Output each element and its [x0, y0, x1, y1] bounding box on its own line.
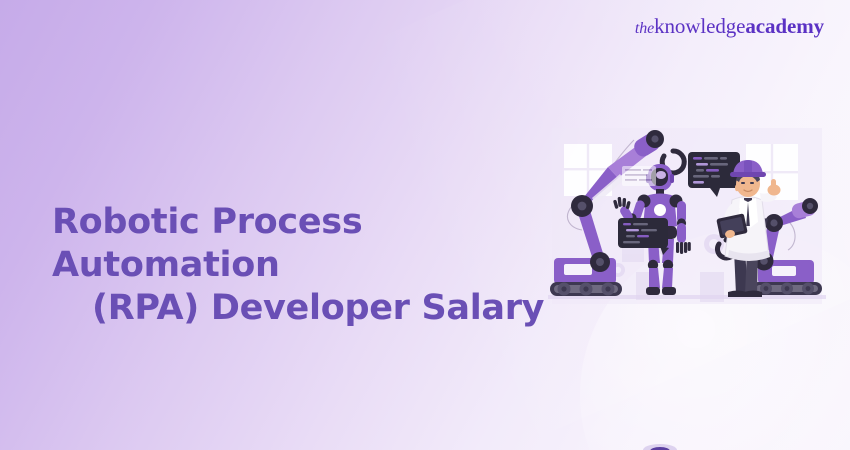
text-lines-panel	[622, 166, 656, 186]
page-title: Robotic Process Automation (RPA) Develop…	[52, 201, 552, 329]
banner-root: theknowledgeacademy Robotic Process Auto…	[0, 0, 850, 450]
logo-the: the	[635, 20, 654, 37]
page-title-line-2: (RPA) Developer Salary	[52, 287, 552, 330]
brand-logo[interactable]: theknowledgeacademy	[635, 16, 824, 37]
rpa-robotics-illustration	[548, 122, 826, 312]
logo-academy: academy	[745, 14, 824, 38]
logo-knowledge: knowledge	[654, 14, 745, 38]
page-title-line-1: Robotic Process Automation	[52, 201, 552, 286]
bottom-edge-shape	[630, 440, 690, 450]
